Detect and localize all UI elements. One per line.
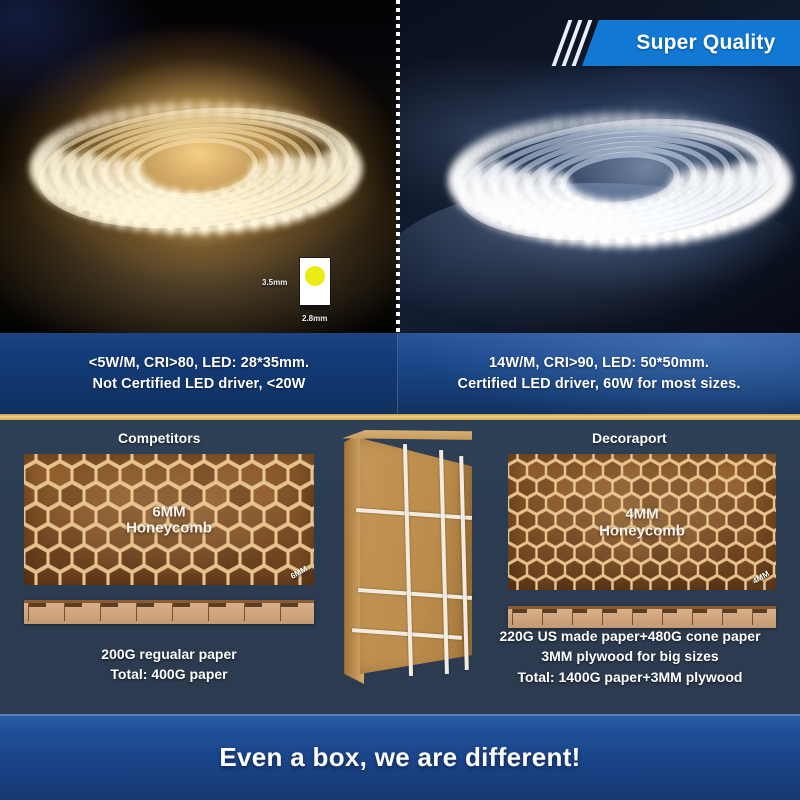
led-emitter-dot: [616, 117, 625, 126]
cross-section-cell-shadow: [753, 609, 767, 613]
cross-section-cell-shadow: [245, 603, 262, 607]
spec-right-line1: 14W/M, CRI>90, LED: 50*50mm.: [489, 355, 709, 371]
spec-band-decoraport: 14W/M, CRI>90, LED: 50*50mm. Certified L…: [398, 333, 800, 414]
carton-box-illustration: [336, 428, 482, 690]
led-emitter-dot: [77, 124, 85, 132]
super-quality-label: Super Quality: [623, 31, 776, 55]
honeycomb-cross-section-right: [508, 606, 776, 628]
led-emitter-dot: [150, 107, 158, 115]
super-quality-badge: Super Quality: [582, 20, 800, 66]
led-emitter-dot: [251, 219, 259, 227]
led-emitter-dot: [218, 106, 226, 114]
cross-section-cell-shadow: [723, 609, 737, 613]
led-emitter-dot: [554, 230, 563, 239]
led-emitter-dot: [218, 222, 226, 230]
column-title-competitors: Competitors: [118, 430, 200, 446]
led-emitter-dot: [647, 118, 656, 127]
cross-section-cell-shadow: [29, 603, 46, 607]
cross-section-cell-shadow: [603, 609, 617, 613]
led-emitter-dot: [150, 221, 158, 229]
led-emitter-dot: [42, 183, 50, 191]
chip-width-label-left: 2.8mm: [302, 314, 327, 323]
note-left-line2: Total: 400G paper: [24, 664, 314, 684]
cross-section-cell-shadow: [573, 609, 587, 613]
chip-emitter-icon: [305, 266, 325, 286]
cross-section-cell-shadow: [209, 603, 226, 607]
led-emitter-dot: [234, 221, 242, 229]
led-emitter-dot: [490, 138, 499, 147]
led-emitter-dot: [481, 208, 490, 217]
led-strip-ring: [453, 105, 787, 255]
led-emitter-dot: [266, 216, 274, 224]
led-emitter-dot: [513, 221, 522, 230]
spec-left-line2: Not Certified LED driver, <20W: [93, 376, 306, 392]
led-emitter-dot: [90, 209, 98, 217]
led-emitter-dot: [692, 124, 701, 133]
led-emitter-dot: [307, 124, 315, 132]
column-title-decoraport: Decoraport: [592, 430, 667, 446]
vertical-dotted-divider: [396, 0, 400, 333]
note-left-line1: 200G regualar paper: [24, 644, 314, 664]
led-emitter-dot: [501, 217, 510, 226]
spec-band-row: <5W/M, CRI>80, LED: 28*35mm. Not Certifi…: [0, 333, 800, 414]
led-emitter-dot: [34, 164, 42, 172]
packaging-comparison-section: Competitors Decoraport 6MM Honeycomb 6MM…: [0, 420, 800, 714]
cross-section-cell-shadow: [543, 609, 557, 613]
cross-section-cell-shadow: [65, 603, 82, 607]
led-emitter-dot: [167, 222, 175, 230]
led-emitter-dot: [473, 148, 482, 157]
led-emitter-dot: [336, 189, 344, 197]
led-emitter-dot: [42, 145, 50, 153]
cool-white-led-strip-photo: Super Quality 5mm 5mm: [398, 0, 800, 333]
led-emitter-dot: [584, 118, 593, 127]
led-emitter-dot: [706, 127, 715, 136]
honeycomb-panel-competitors: 6MM Honeycomb 6MM: [24, 454, 314, 585]
chip-body-left: [300, 258, 330, 305]
led-emitter-dot: [281, 213, 289, 221]
led-emitter-dot: [600, 234, 609, 243]
led-emitter-dot: [90, 119, 98, 127]
packaging-note-competitors: 200G regualar paper Total: 400G paper: [24, 644, 314, 685]
led-emitter-dot: [281, 115, 289, 123]
led-emitter-dot: [501, 134, 510, 143]
honeycomb-panel-decoraport: 4MM Honeycomb 4MM: [508, 454, 776, 590]
spec-right-line2: Certified LED driver, 60W for most sizes…: [458, 376, 741, 392]
led-emitter-dot: [539, 124, 548, 133]
chip-height-label-left: 3.5mm: [262, 278, 287, 287]
led-emitter-dot: [481, 143, 490, 152]
led-emitter-dot: [718, 221, 727, 230]
cross-section-cell-shadow: [281, 603, 298, 607]
led-emitter-dot: [49, 189, 57, 197]
led-emitter-dot: [741, 138, 750, 147]
led-emitter-dot: [167, 106, 175, 114]
warm-white-led-strip-photo: 3.5mm 2.8mm: [0, 0, 398, 333]
product-photo-row: 3.5mm 2.8mm Super Quality 5mm 5mm: [0, 0, 800, 333]
chip-callout-left: 3.5mm 2.8mm: [300, 258, 330, 305]
cross-section-cell-shadow: [633, 609, 647, 613]
led-emitter-dot: [118, 112, 126, 120]
led-emitter-dot: [201, 223, 209, 231]
product-infographic: 3.5mm 2.8mm Super Quality 5mm 5mm: [0, 0, 800, 800]
led-emitter-dot: [663, 232, 672, 241]
led-emitter-dot: [526, 127, 535, 136]
note-right-line1: 220G US made paper+480G cone paper: [470, 626, 790, 646]
warm-led-coil-graphic: [0, 0, 398, 333]
honeycomb-cell-grid: [24, 454, 314, 585]
cross-section-cell-shadow: [137, 603, 154, 607]
led-emitter-dot: [706, 224, 715, 233]
led-emitter-dot: [57, 134, 65, 142]
cross-section-cell-shadow: [101, 603, 118, 607]
led-emitter-dot: [584, 233, 593, 242]
led-emitter-dot: [342, 183, 350, 191]
led-emitter-dot: [539, 227, 548, 236]
led-emitter-dot: [66, 129, 74, 137]
led-emitter-dot: [616, 234, 625, 243]
honeycomb-cross-section-left: [24, 600, 314, 624]
led-emitter-dot: [741, 213, 750, 222]
super-quality-stripes-icon: [548, 20, 586, 66]
honeycomb-cell-grid: [508, 454, 776, 590]
packaging-note-decoraport: 220G US made paper+480G cone paper 3MM p…: [470, 626, 790, 687]
led-emitter-dot: [600, 117, 609, 126]
spec-band-competitor: <5W/M, CRI>80, LED: 28*35mm. Not Certifi…: [0, 333, 398, 414]
led-emitter-dot: [118, 216, 126, 224]
tagline-text: Even a box, we are different!: [219, 742, 580, 773]
led-emitter-dot: [184, 223, 192, 231]
led-emitter-dot: [490, 213, 499, 222]
led-emitter-dot: [777, 170, 786, 179]
led-emitter-dot: [328, 194, 336, 202]
note-right-line2: 3MM plywood for big sizes: [470, 646, 790, 666]
led-emitter-dot: [631, 234, 640, 243]
led-emitter-dot: [49, 139, 57, 147]
tagline-banner: Even a box, we are different!: [0, 714, 800, 800]
led-emitter-dot: [730, 134, 739, 143]
spec-left-line1: <5W/M, CRI>80, LED: 28*35mm.: [89, 355, 309, 371]
cross-section-cell-shadow: [693, 609, 707, 613]
note-right-line3: Total: 1400G paper+3MM plywood: [470, 667, 790, 687]
led-emitter-dot: [678, 230, 687, 239]
led-emitter-dot: [307, 205, 315, 213]
led-emitter-dot: [750, 208, 759, 217]
cross-section-cell-shadow: [663, 609, 677, 613]
led-strip-ring: [33, 96, 358, 241]
led-emitter-dot: [758, 203, 767, 212]
led-emitter-dot: [730, 217, 739, 226]
led-emitter-dot: [294, 209, 302, 217]
led-emitter-dot: [266, 112, 274, 120]
led-emitter-dot: [647, 233, 656, 242]
cross-section-cell-shadow: [173, 603, 190, 607]
led-emitter-dot: [103, 213, 111, 221]
led-emitter-dot: [328, 134, 336, 142]
cross-section-cell-shadow: [513, 609, 527, 613]
led-emitter-dot: [103, 115, 111, 123]
led-emitter-dot: [318, 200, 326, 208]
led-emitter-dot: [513, 130, 522, 139]
led-emitter-dot: [318, 129, 326, 137]
led-emitter-dot: [692, 227, 701, 236]
